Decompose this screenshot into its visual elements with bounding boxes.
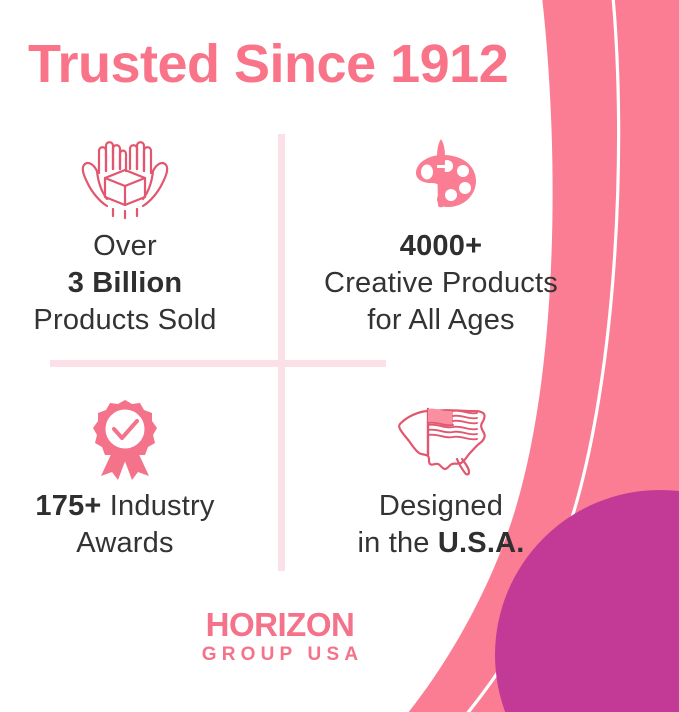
pink-swoosh-shape [392,0,679,712]
stat-line: Creative Products [324,265,558,302]
divider-horizontal [50,360,386,367]
stat-line: in the U.S.A. [357,525,524,562]
brand-logo: HORIZON GROUP USA [0,608,560,667]
stat-line-emphasis: 3 Billion [33,265,216,302]
stat-line: Designed [357,488,524,525]
stat-text-industry-awards: 175+ Industry Awards [35,488,214,562]
stat-text-creative-products: 4000+ Creative Products for All Ages [324,228,558,339]
stat-count-awards: 175+ [35,490,101,522]
stat-line: Products Sold [33,302,216,339]
stat-line-emphasis: 4000+ [324,228,558,265]
swoosh-hairline [452,0,619,712]
poster-canvas: Trusted Since 1912 [0,0,679,712]
usa-map-flag-icon [385,392,497,484]
award-ribbon-icon [81,392,169,484]
stat-block-designed-in-usa: Designed in the U.S.A. [296,392,586,562]
stat-block-creative-products: 4000+ Creative Products for All Ages [296,132,586,339]
divider-vertical [278,134,285,571]
logo-subtitle: GROUP USA [0,643,560,667]
page-title: Trusted Since 1912 [28,34,508,94]
stat-text-designed-in-usa: Designed in the U.S.A. [357,488,524,562]
stat-line-prefix: in the [357,527,437,559]
paint-palette-icon [396,132,486,224]
stat-line: Over [33,228,216,265]
stat-line: Awards [35,525,214,562]
stat-block-industry-awards: 175+ Industry Awards [0,392,266,562]
stat-block-products-sold: Over 3 Billion Products Sold [0,132,266,339]
stat-line: for All Ages [324,302,558,339]
stat-line-emphasis: U.S.A. [438,527,525,559]
hands-holding-box-icon [73,132,177,224]
stat-line-rest: Industry [102,490,215,522]
stat-text-products-sold: Over 3 Billion Products Sold [33,228,216,339]
stat-line: 175+ Industry [35,488,214,525]
logo-wordmark: HORIZON [0,608,560,641]
